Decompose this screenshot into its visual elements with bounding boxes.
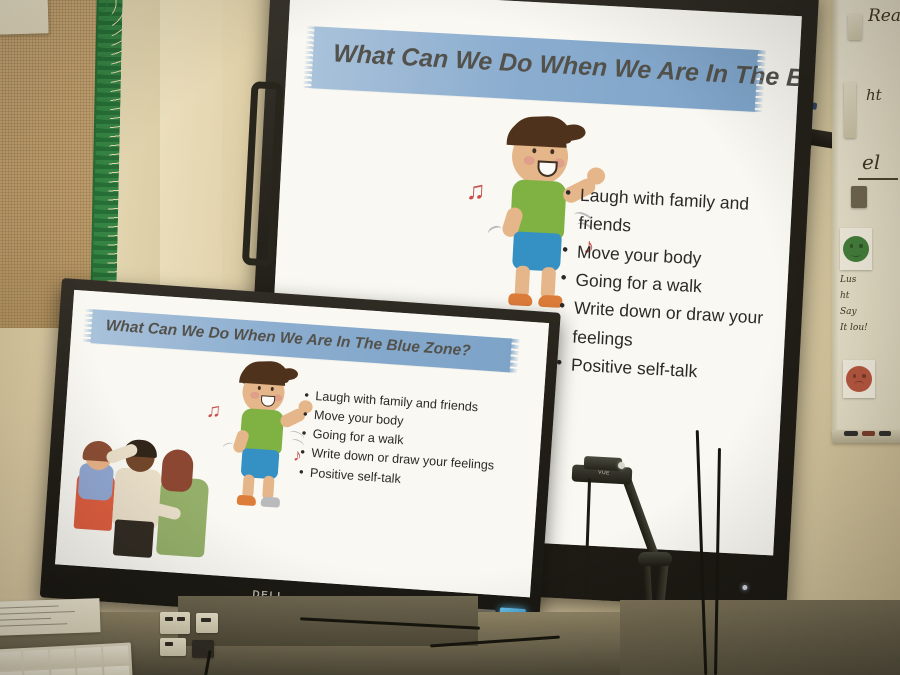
classroom-scene: Rea ht el Lus ht Say It lou! CLEVERTOUCH… [0,0,900,675]
slide-bullet-list: Laugh with family and friends Move your … [309,387,500,495]
computer-keyboard[interactable] [0,642,133,675]
whiteboard-scribble: Rea [868,8,900,26]
wall-panel-b [160,0,230,296]
whiteboard-marker[interactable] [862,431,875,436]
whiteboard-frame [832,0,839,442]
whiteboard-scribble: ht [840,292,849,301]
monitor-screen[interactable]: What Can We Do When We Are In The Blue Z… [55,290,549,598]
visualizer-joint[interactable] [638,552,672,566]
music-note-icon: ♫ [465,175,486,207]
whiteboard-marker[interactable] [879,431,891,436]
boy-shoe-right [261,496,281,507]
whiteboard-magnet[interactable] [844,82,856,138]
boy-shoe-left [508,293,533,306]
presentation-slide: What Can We Do When We Are In The Blue Z… [55,290,549,598]
visualizer-brand-label: VUE [598,470,610,477]
printed-sheet [0,598,101,636]
whiteboard-marker[interactable] [844,431,858,436]
boy-shoe-left [237,495,257,506]
floor-area [620,600,900,675]
boy-hair-tuft [279,367,299,382]
slide-title-banner: What Can We Do When We Are In The Blue Z… [311,26,758,112]
boy-hair-tuft [560,122,587,142]
green-face-icon [843,236,869,262]
camera-lens-icon [618,462,625,469]
music-note-icon: ♫ [205,399,222,423]
dell-monitor[interactable]: What Can We Do When We Are In The Blue Z… [40,278,561,632]
whiteboard-magnet[interactable] [848,14,862,40]
wall-power-socket[interactable] [160,638,186,656]
list-item: Write down or draw your feelings [572,294,775,361]
visualizer-camera [584,456,623,471]
bulletin-paper [0,0,49,35]
whiteboard-scribble: el [862,152,880,173]
whiteboard-photo-magnet[interactable] [851,186,867,208]
red-face-card [843,360,875,398]
whiteboard-scribble: Say [840,308,857,317]
motion-line [487,224,504,238]
slide-title: What Can We Do When We Are In The Blue Z… [105,317,471,360]
red-face-icon [846,366,872,392]
green-face-card [840,228,872,270]
wall-power-outlet[interactable] [160,612,190,634]
slide-bullet-list: Laugh with family and friends Move your … [570,181,780,390]
whiteboard-scribble: Lus [840,276,856,285]
whiteboard-scribble: It lou! [840,324,868,333]
wall-power-outlet[interactable] [196,613,218,633]
whiteboard-underline [858,178,898,180]
man-pants [113,519,154,558]
list-item: Laugh with family and friends [578,181,781,248]
slide-title: What Can We Do When We Are In The Blue Z… [332,39,801,99]
woman-right-hair [160,448,194,492]
whiteboard-scribble: ht [866,88,882,104]
motion-line [222,441,235,451]
family-group-hug-illustration [67,440,215,567]
